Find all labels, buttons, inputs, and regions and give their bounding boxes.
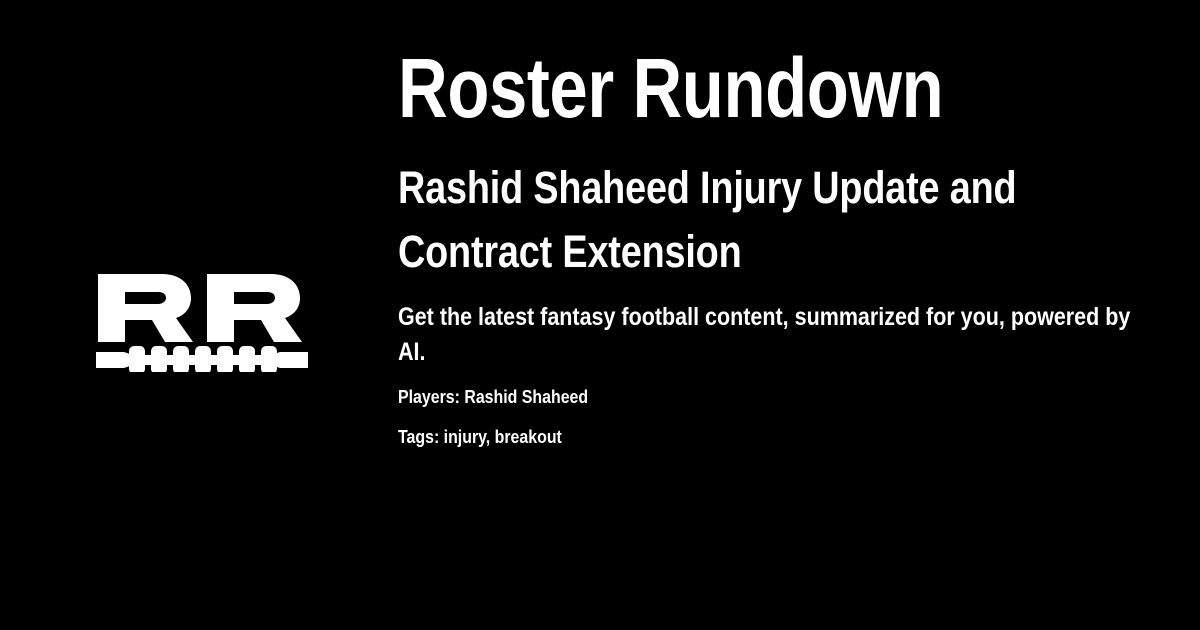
- roster-rundown-logo-icon: [96, 272, 308, 372]
- card-content: Roster Rundown Rashid Shaheed Injury Upd…: [398, 46, 1138, 449]
- article-headline: Rashid Shaheed Injury Update and Contrac…: [398, 156, 1137, 284]
- site-title: Roster Rundown: [398, 46, 1005, 130]
- open-graph-card: Roster Rundown Rashid Shaheed Injury Upd…: [0, 0, 1200, 630]
- meta-players: Players: Rashid Shaheed: [398, 385, 1034, 409]
- football-laces-icon: [96, 346, 308, 372]
- article-meta: Players: Rashid Shaheed Tags: injury, br…: [398, 385, 1138, 449]
- brand-logo-block: [96, 272, 308, 372]
- meta-tags: Tags: injury, breakout: [398, 425, 1034, 449]
- article-description: Get the latest fantasy football content,…: [398, 300, 1133, 371]
